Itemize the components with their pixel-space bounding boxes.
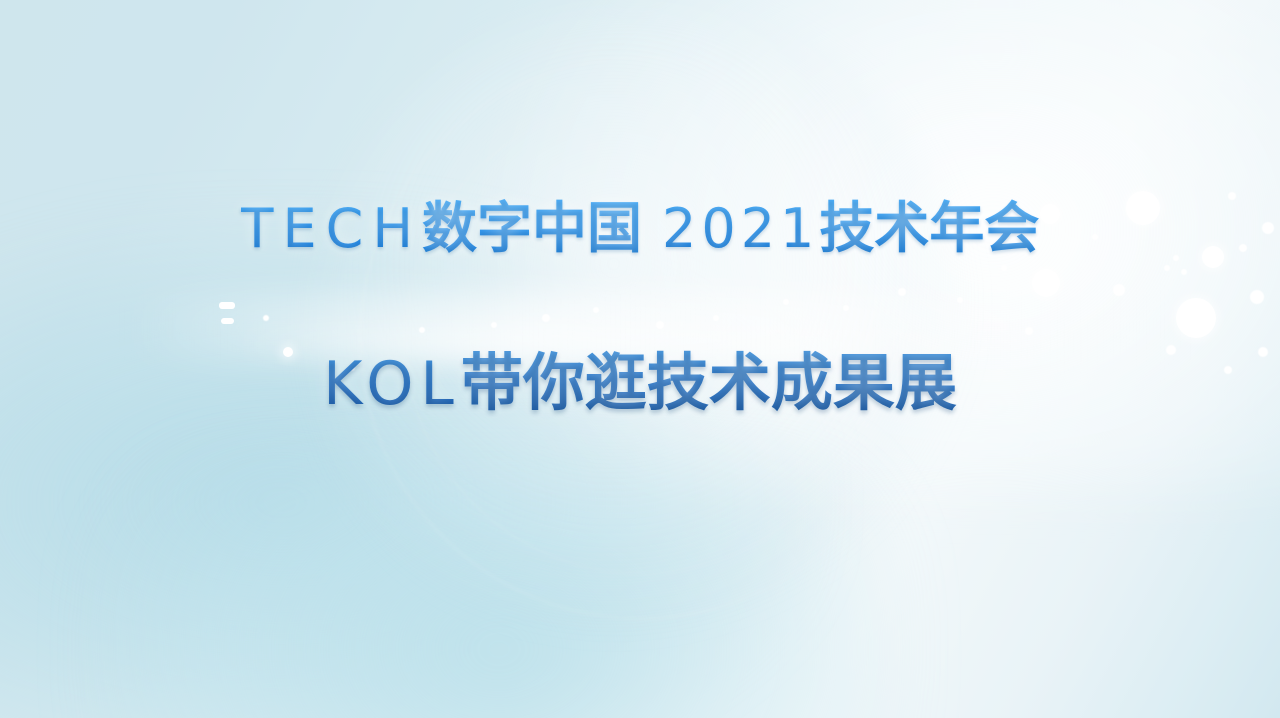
light-streak-primary [128,294,1178,360]
background-glow-left [0,215,819,718]
bokeh-particle [1001,265,1007,271]
light-streak-secondary [230,327,1075,361]
light-speck [221,318,234,324]
bokeh-particle [843,305,849,311]
bokeh-particle [349,365,355,371]
event-title-line: TECH数字中国2021技术年会 [0,196,1280,261]
bokeh-particle [1239,244,1247,252]
subtitle-chinese-suffix: 带你逛技术成果展 [461,346,957,419]
bokeh-particle [1176,298,1216,338]
bokeh-particle [713,315,719,321]
bokeh-particle [1181,269,1187,275]
bokeh-particle [783,299,789,305]
subtitle-latin-prefix: KOL [323,349,461,419]
bokeh-particle [542,314,550,322]
bokeh-particle [1258,347,1268,357]
title-chinese-suffix: 技术年会 [819,196,1039,260]
bokeh-particle [1092,234,1098,240]
bokeh-particle [593,307,599,313]
bokeh-particle [1224,366,1232,374]
bokeh-particle [1173,255,1179,261]
title-card-stage: TECH数字中国2021技术年会 KOL带你逛技术成果展 [0,0,1280,718]
bokeh-particle [1126,191,1160,225]
bokeh-particle [263,315,269,321]
title-latin-prefix: TECH [241,197,422,260]
bokeh-particle [1262,222,1274,234]
particle-layer [0,0,1280,718]
bokeh-particle [656,321,664,329]
bokeh-particle [283,347,293,357]
title-year: 2021 [662,197,819,260]
event-subtitle-line: KOL带你逛技术成果展 [0,347,1280,420]
title-chinese-mid: 数字中国 [422,196,642,260]
tech-globe-graphic [310,0,970,660]
bokeh-particle [491,322,497,328]
title-block: TECH数字中国2021技术年会 KOL带你逛技术成果展 [0,196,1280,420]
background-glow-right [486,0,1280,488]
bokeh-particle [957,297,963,303]
light-speck [219,302,235,309]
bokeh-particle [898,288,906,296]
globe-ring-outer-icon [360,57,922,619]
background-glow-bottom [102,460,896,718]
bokeh-particle [1040,204,1060,224]
bokeh-particle [1166,345,1176,355]
globe-ring-inner-icon [405,102,877,574]
bokeh-particle [1113,284,1125,296]
bokeh-particle [1025,327,1033,335]
bokeh-particle [419,327,425,333]
bokeh-particle [1228,192,1236,200]
bokeh-particle [1202,246,1224,268]
bokeh-particle [1164,265,1170,271]
bokeh-particle [1250,290,1264,304]
bokeh-particle [1032,269,1060,297]
